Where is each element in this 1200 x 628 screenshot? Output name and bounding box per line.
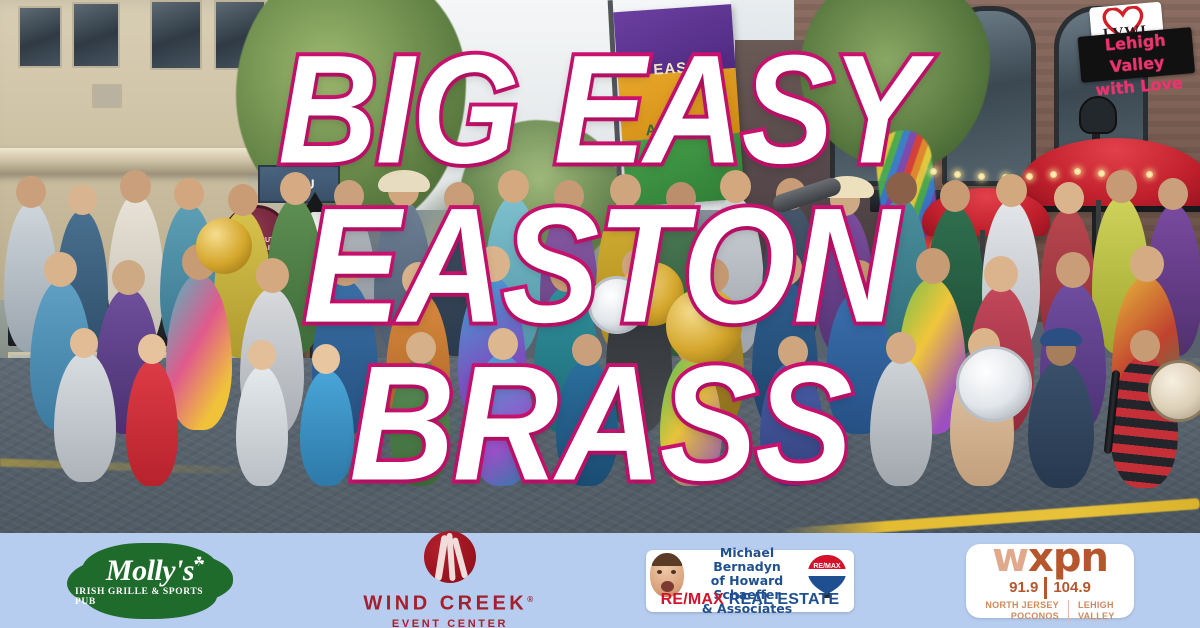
- wxpn-market-right: LEHIGH VALLEY: [1078, 600, 1115, 622]
- wxpn-market-right-1: LEHIGH: [1078, 600, 1115, 611]
- wxpn-logo[interactable]: wxpn 91.9 104.9 NORTH JERSEY POCONOS LEH…: [966, 544, 1134, 618]
- wind-creek-logo[interactable]: WIND CREEK® EVENT CENTER: [363, 531, 536, 628]
- sponsor-slot-mollys[interactable]: ☘ Molly's IRISH GRILLE & SPORTS PUB: [0, 533, 300, 628]
- wxpn-divider: [1044, 577, 1047, 599]
- remax-logo[interactable]: Michael Bernadyn of Howard Schaeffer & A…: [646, 550, 854, 612]
- wxpn-market-right-2: VALLEY: [1078, 611, 1115, 622]
- mollys-tagline: IRISH GRILLE & SPORTS PUB: [75, 587, 225, 607]
- mollys-logo[interactable]: ☘ Molly's IRISH GRILLE & SPORTS PUB: [75, 548, 225, 614]
- wxpn-market-divider: [1068, 600, 1069, 622]
- wxpn-markets: NORTH JERSEY POCONOS LEHIGH VALLEY: [985, 600, 1114, 622]
- wxpn-market-left-2: POCONOS: [985, 611, 1059, 622]
- headline-line-3: BRASS: [0, 345, 1200, 504]
- poster: YOU ✝ HAND CUT CRYSTAL EAS AS: [0, 0, 1200, 628]
- wind-creek-wordmark: WIND CREEK: [363, 593, 527, 615]
- wind-creek-name: WIND CREEK®: [363, 590, 536, 614]
- wxpn-market-left: NORTH JERSEY POCONOS: [985, 600, 1059, 622]
- wxpn-callsign-w: w: [992, 535, 1028, 581]
- wxpn-frequencies: 91.9 104.9: [1009, 577, 1091, 599]
- wxpn-freq-left: 91.9: [1009, 579, 1038, 596]
- sponsor-slot-remax[interactable]: Michael Bernadyn of Howard Schaeffer & A…: [600, 533, 900, 628]
- trademark-symbol: ®: [527, 595, 536, 604]
- mollys-name: Molly's: [106, 556, 194, 586]
- headline-line-2: EASTON: [0, 186, 1200, 345]
- wxpn-freq-right: 104.9: [1053, 579, 1091, 596]
- sponsor-bar: ☘ Molly's IRISH GRILLE & SPORTS PUB WIND…: [0, 533, 1200, 628]
- remax-line-1: Michael Bernadyn: [686, 546, 808, 574]
- remax-brand-blue: REAL ESTATE: [729, 591, 840, 608]
- headline-line-1: BIG EASY: [0, 36, 1200, 186]
- wxpn-callsign-xpn: xpn: [1028, 535, 1108, 581]
- wxpn-callsign: wxpn: [992, 540, 1108, 576]
- wind-creek-tagline: EVENT CENTER: [392, 618, 508, 628]
- lehigh-valley-with-love-badge[interactable]: LVWL Lehigh Valley with Love: [1075, 0, 1195, 83]
- wind-creek-mark-icon: [424, 531, 476, 583]
- sponsor-slot-wxpn[interactable]: wxpn 91.9 104.9 NORTH JERSEY POCONOS LEH…: [900, 533, 1200, 628]
- badge-text-box: Lehigh Valley with Love: [1078, 27, 1196, 83]
- sponsor-slot-wind-creek[interactable]: WIND CREEK® EVENT CENTER: [300, 533, 600, 628]
- remax-brand-red: RE/MAX: [661, 591, 724, 608]
- poster-headline: BIG EASY EASTON BRASS: [0, 36, 1200, 503]
- clover-icon: ☘: [193, 554, 205, 570]
- wxpn-market-left-1: NORTH JERSEY: [985, 600, 1059, 611]
- svg-text:RE/MAX: RE/MAX: [813, 563, 841, 570]
- remax-brand-line: RE/MAX REAL ESTATE: [652, 591, 848, 609]
